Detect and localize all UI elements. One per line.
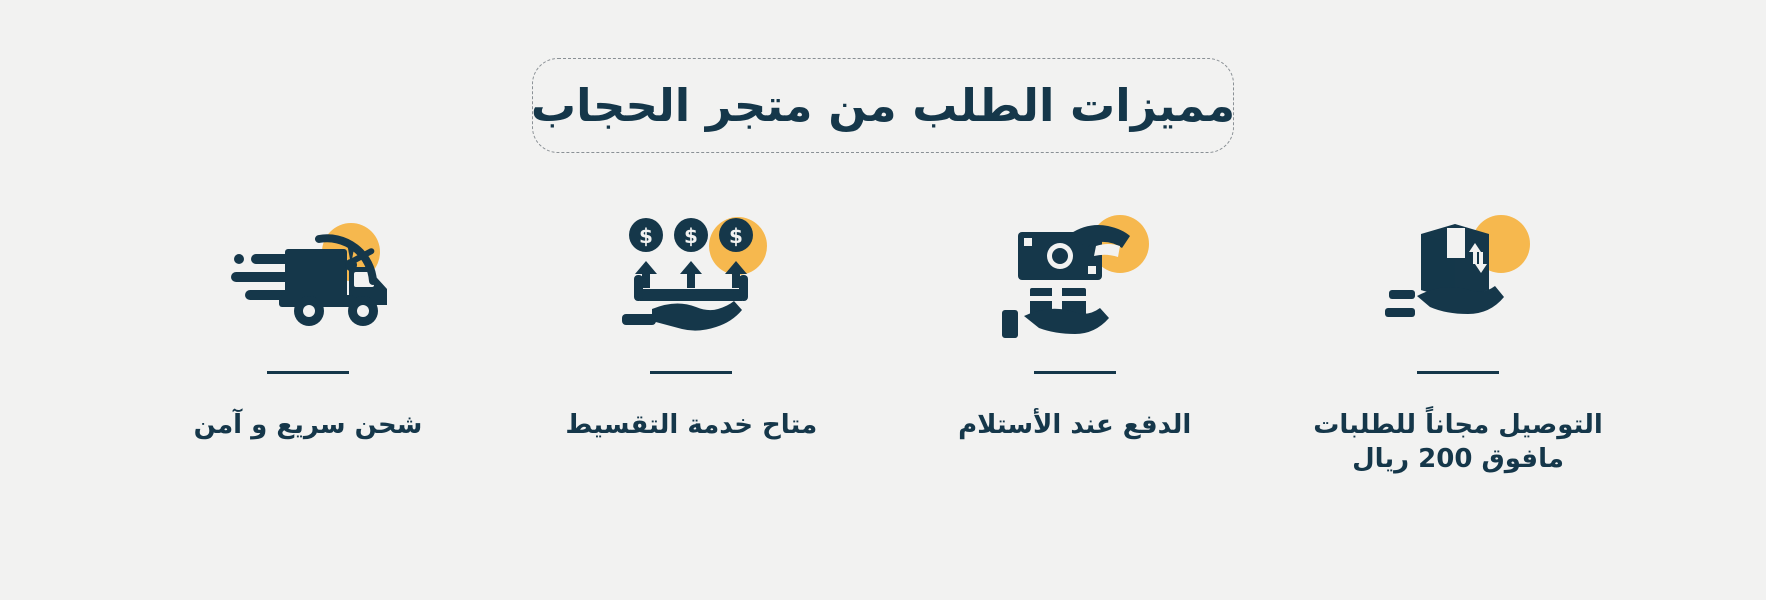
feature-divider xyxy=(267,371,349,374)
icon-wrap-installment: $ $ $ xyxy=(601,205,781,345)
icon-wrap-cash-on-delivery xyxy=(985,205,1165,345)
feature-divider xyxy=(650,371,732,374)
feature-label: الدفع عند الأستلام xyxy=(958,408,1191,442)
feature-divider xyxy=(1034,371,1116,374)
svg-text:$: $ xyxy=(639,224,653,248)
icon-wrap-fast-shipping xyxy=(218,205,398,345)
features-row: شحن سريع و آمن $ $ $ xyxy=(143,205,1623,477)
title-pill: مميزات الطلب من متجر الحجاب xyxy=(532,58,1234,153)
svg-text:$: $ xyxy=(684,224,698,248)
feature-fast-shipping: شحن سريع و آمن xyxy=(143,205,473,442)
fast-delivery-truck-icon xyxy=(223,215,393,335)
feature-label: شحن سريع و آمن xyxy=(194,408,423,442)
feature-free-delivery: التوصيل مجاناً للطلبات مافوق 200 ريال xyxy=(1293,205,1623,477)
feature-divider xyxy=(1417,371,1499,374)
feature-label: التوصيل مجاناً للطلبات مافوق 200 ريال xyxy=(1313,408,1603,477)
feature-installment: $ $ $ xyxy=(526,205,856,442)
feature-label: متاح خدمة التقسيط xyxy=(565,408,817,442)
free-shipping-package-icon xyxy=(1383,210,1533,340)
svg-text:$: $ xyxy=(729,224,743,248)
installment-coins-hand-icon: $ $ $ xyxy=(616,213,766,338)
icon-wrap-free-delivery xyxy=(1368,205,1548,345)
cash-on-delivery-icon xyxy=(1000,210,1150,340)
page-title: مميزات الطلب من متجر الحجاب xyxy=(531,83,1235,128)
feature-cash-on-delivery: الدفع عند الأستلام xyxy=(910,205,1240,442)
promo-banner: مميزات الطلب من متجر الحجاب xyxy=(0,0,1766,600)
